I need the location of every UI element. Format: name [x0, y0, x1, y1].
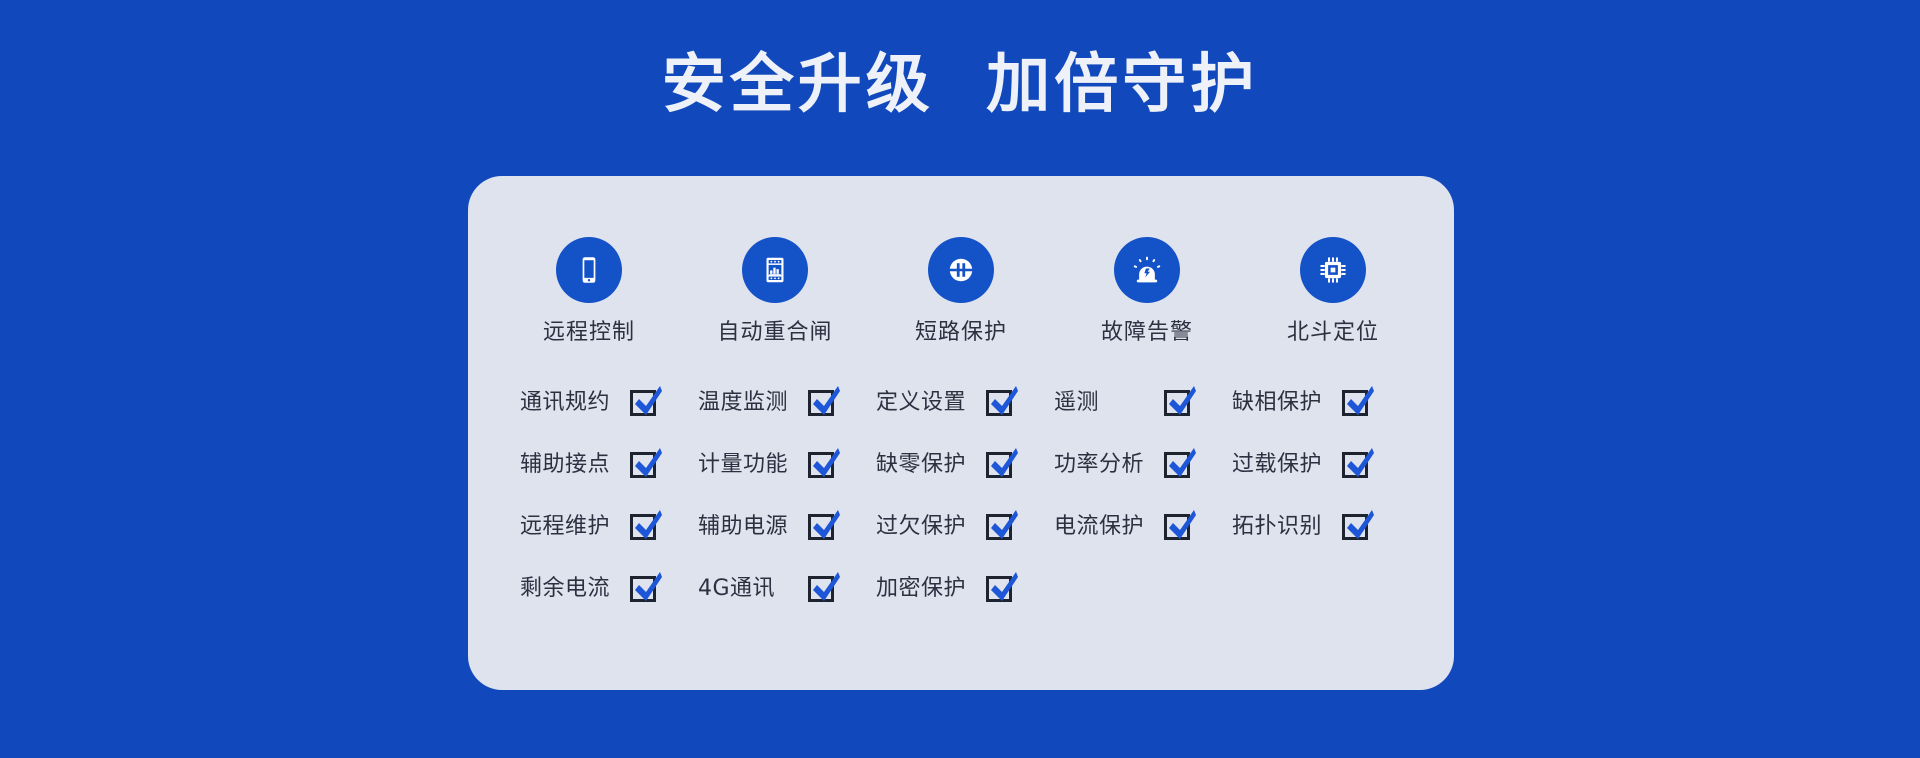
check-item-guozaibaohu[interactable]: 过载保护	[1232, 448, 1410, 482]
check-label: 辅助电源	[698, 514, 808, 540]
alarm-light-icon	[1114, 237, 1180, 303]
check-label: 计量功能	[698, 452, 808, 478]
check-item-shengyudianliu[interactable]: 剩余电流	[520, 572, 698, 606]
check-item-fuzhujiedian[interactable]: 辅助接点	[520, 448, 698, 482]
check-item-quexiangbaohu[interactable]: 缺相保护	[1232, 386, 1410, 420]
feature-fault-alarm[interactable]: 故障告警	[1054, 237, 1240, 346]
check-label: 遥测	[1054, 390, 1164, 416]
checklist-row: 远程维护 辅助电源 过欠保护	[520, 496, 1410, 558]
feature-short-circuit-protection[interactable]: 短路保护	[868, 237, 1054, 346]
feature-label: 短路保护	[915, 320, 1007, 346]
check-item-tongxunguiyue[interactable]: 通讯规约	[520, 386, 698, 420]
mobile-phone-icon	[556, 237, 622, 303]
short-circuit-icon	[928, 237, 994, 303]
check-item-fuzhudianyuan[interactable]: 辅助电源	[698, 510, 876, 544]
feature-label: 故障告警	[1101, 320, 1193, 346]
checked-checkbox-icon[interactable]	[808, 572, 842, 606]
checked-checkbox-icon[interactable]	[986, 572, 1020, 606]
check-item-dingyishezhi[interactable]: 定义设置	[876, 386, 1054, 420]
check-item-guoqianbaohu[interactable]: 过欠保护	[876, 510, 1054, 544]
chip-positioning-icon	[1300, 237, 1366, 303]
checked-checkbox-icon[interactable]	[986, 386, 1020, 420]
check-label: 过欠保护	[876, 514, 986, 540]
checked-checkbox-icon[interactable]	[630, 572, 664, 606]
check-label: 远程维护	[520, 514, 630, 540]
check-label: 定义设置	[876, 390, 986, 416]
circuit-breaker-icon	[742, 237, 808, 303]
check-item-yuanchengweihu[interactable]: 远程维护	[520, 510, 698, 544]
checked-checkbox-icon[interactable]	[630, 510, 664, 544]
page-title: 安全升级 加倍守护	[0, 42, 1920, 128]
check-label: 电流保护	[1054, 514, 1164, 540]
checked-checkbox-icon[interactable]	[1342, 386, 1376, 420]
feature-icon-row: 远程控制	[496, 237, 1426, 346]
checklist-row: 剩余电流 4G通讯 加密保护	[520, 558, 1410, 620]
checked-checkbox-icon[interactable]	[1164, 510, 1198, 544]
checked-checkbox-icon[interactable]	[1164, 448, 1198, 482]
checked-checkbox-icon[interactable]	[1342, 448, 1376, 482]
check-item-gonglüfenxi[interactable]: 功率分析	[1054, 448, 1232, 482]
feature-checklist: 通讯规约 温度监测 定义设置	[520, 372, 1410, 620]
check-label: 功率分析	[1054, 452, 1164, 478]
checklist-row: 通讯规约 温度监测 定义设置	[520, 372, 1410, 434]
check-item-jiamibaohu[interactable]: 加密保护	[876, 572, 1054, 606]
checklist-row: 辅助接点 计量功能 缺零保护	[520, 434, 1410, 496]
check-label: 缺相保护	[1232, 390, 1342, 416]
checked-checkbox-icon[interactable]	[986, 448, 1020, 482]
checked-checkbox-icon[interactable]	[808, 510, 842, 544]
checked-checkbox-icon[interactable]	[1164, 386, 1198, 420]
check-label: 4G通讯	[698, 576, 808, 602]
check-item-yaoce[interactable]: 遥测	[1054, 386, 1232, 420]
checked-checkbox-icon[interactable]	[630, 448, 664, 482]
checked-checkbox-icon[interactable]	[1342, 510, 1376, 544]
check-label: 缺零保护	[876, 452, 986, 478]
check-label: 通讯规约	[520, 390, 630, 416]
check-label: 加密保护	[876, 576, 986, 602]
check-item-dianliubaohu[interactable]: 电流保护	[1054, 510, 1232, 544]
check-item-quelingbaohu[interactable]: 缺零保护	[876, 448, 1054, 482]
check-label: 剩余电流	[520, 576, 630, 602]
feature-label: 远程控制	[543, 320, 635, 346]
checked-checkbox-icon[interactable]	[808, 448, 842, 482]
check-label: 辅助接点	[520, 452, 630, 478]
checked-checkbox-icon[interactable]	[630, 386, 664, 420]
feature-auto-reclose[interactable]: 自动重合闸	[682, 237, 868, 346]
check-label: 温度监测	[698, 390, 808, 416]
feature-remote-control[interactable]: 远程控制	[496, 237, 682, 346]
checked-checkbox-icon[interactable]	[808, 386, 842, 420]
checked-checkbox-icon[interactable]	[986, 510, 1020, 544]
check-label: 拓扑识别	[1232, 514, 1342, 540]
check-item-4g-tongxun[interactable]: 4G通讯	[698, 572, 876, 606]
check-item-tuopushibie[interactable]: 拓扑识别	[1232, 510, 1410, 544]
feature-card: 远程控制	[468, 176, 1454, 690]
feature-beidou-positioning[interactable]: 北斗定位	[1240, 237, 1426, 346]
check-item-wenduJiance[interactable]: 温度监测	[698, 386, 876, 420]
check-label: 过载保护	[1232, 452, 1342, 478]
feature-label: 北斗定位	[1287, 320, 1379, 346]
feature-label: 自动重合闸	[717, 320, 832, 346]
check-item-jiliangongneng[interactable]: 计量功能	[698, 448, 876, 482]
poster-root: 安全升级 加倍守护 远程控制	[0, 0, 1920, 758]
